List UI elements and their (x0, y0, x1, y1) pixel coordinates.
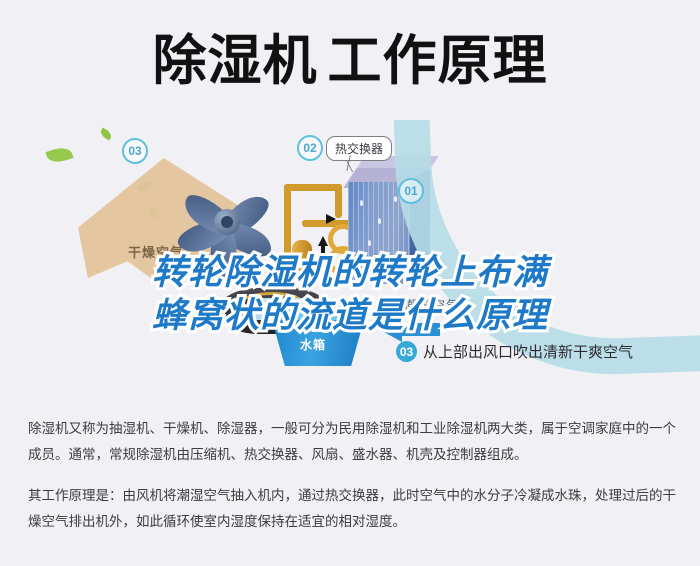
badge-step-03-dry: 03 (122, 138, 148, 164)
leaf-icon (45, 144, 73, 165)
water-droplet-icon (394, 196, 397, 202)
flow-arrow-stem (321, 244, 325, 260)
badge-step-02: 02 (297, 135, 323, 161)
water-droplet-icon (400, 252, 403, 258)
water-droplet-icon (386, 266, 389, 272)
body-paragraph-2: 其工作原理是：由风机将潮湿空气抽入机内，通过热交换器，此时空气中的水分子冷凝成水… (28, 483, 676, 536)
page-title: 除湿机工作原理 (0, 22, 700, 100)
caption-step-02-partial: 成水珠 (506, 296, 548, 316)
water-tank-label: 水箱 (300, 336, 326, 353)
water-droplet-icon (360, 200, 363, 206)
diagram-stage: 干燥空气 03 (0, 120, 700, 405)
caption-badge-03: 03 (396, 341, 417, 362)
caption-step-03-text: 从上部出风口吹出清新干爽空气 (423, 341, 633, 362)
caption-step-03-row: 03 从上部出风口吹出清新干爽空气 (396, 341, 633, 362)
body-paragraph-1: 除湿机又称为抽湿机、干燥机、除湿器，一般可分为民用除湿机和工业除湿机两大类，属于… (28, 416, 676, 469)
humid-air-arrow-head-icon (382, 320, 402, 342)
humid-air-label: 潮湿空气 (404, 295, 460, 314)
pipe-segment (335, 184, 342, 218)
fan-illustration (176, 172, 286, 277)
pipe-segment (284, 184, 342, 191)
humid-air-arrow-tail (398, 323, 440, 336)
pipe-segment (284, 184, 291, 262)
title-part-a: 除湿机 (153, 31, 318, 91)
title-part-b: 工作原理 (328, 31, 548, 91)
water-droplet-icon (368, 240, 371, 246)
infographic-page: 除湿机工作原理 干燥空气 03 (0, 0, 700, 566)
badge-step-01: 01 (398, 178, 424, 204)
compressor-cylinder (292, 240, 312, 272)
water-droplet-icon (378, 218, 381, 224)
water-tank-illustration: 水箱 (272, 306, 376, 372)
title-text-group: 除湿机工作原理 (153, 34, 548, 88)
fan-hub-center (221, 216, 233, 228)
leaf-icon (99, 128, 113, 141)
flow-arrow-right-icon (326, 214, 336, 224)
body-text: 除湿机又称为抽湿机、干燥机、除湿器，一般可分为民用除湿机和工业除湿机两大类，属于… (28, 416, 676, 549)
